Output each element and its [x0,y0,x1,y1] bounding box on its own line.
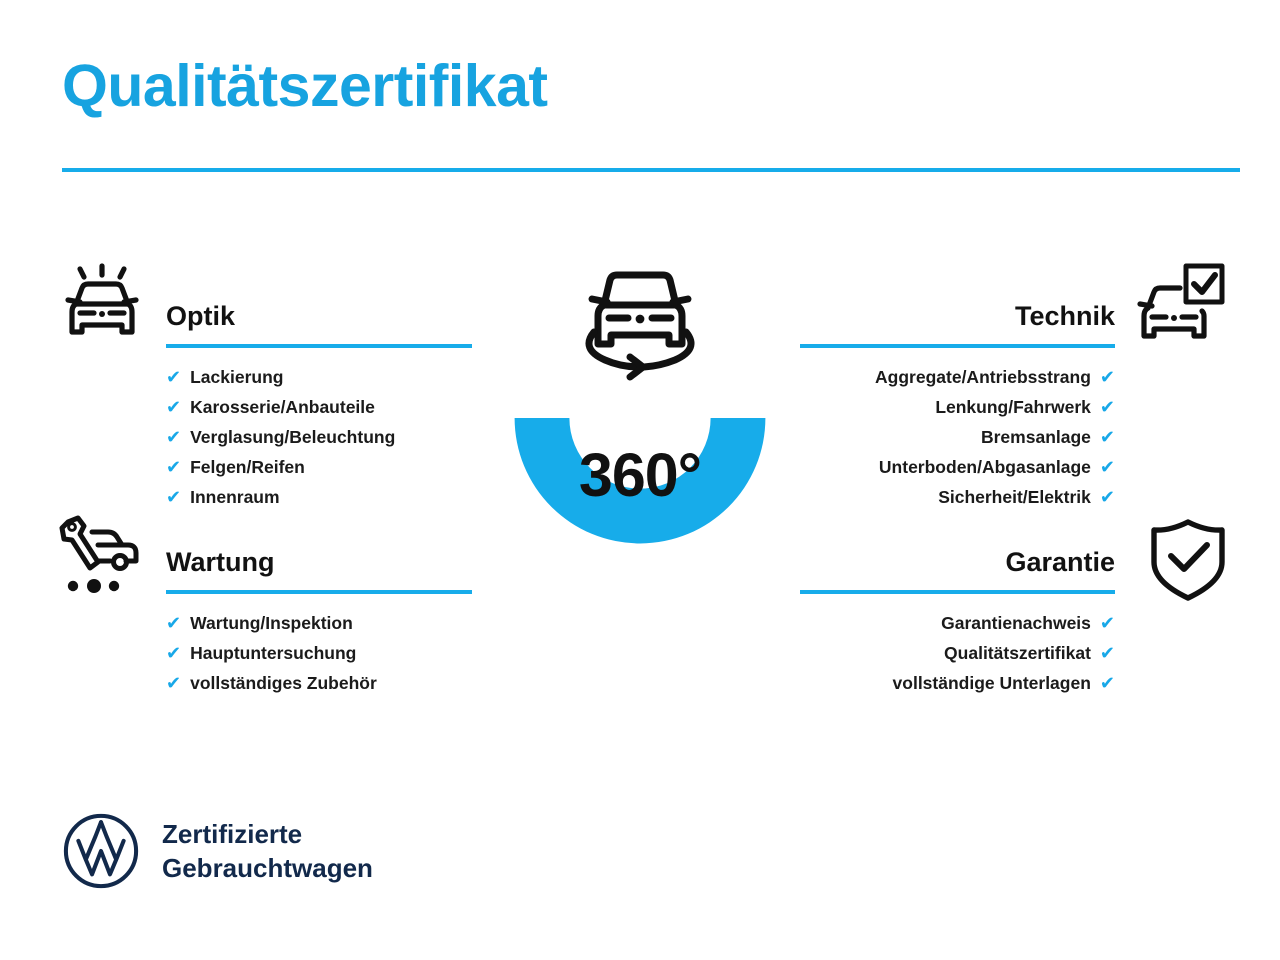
check-icon: ✔ [166,638,181,668]
list-item-label: Lackierung [190,362,283,392]
list-item: Lenkung/Fahrwerk✔ [800,392,1115,422]
section-optik: Optik ✔Lackierung ✔Karosserie/Anbauteile… [166,300,472,342]
list-item-label: Wartung/Inspektion [190,608,353,638]
list-item-label: Innenraum [190,482,279,512]
check-icon: ✔ [1100,608,1115,638]
check-icon: ✔ [166,392,181,422]
list-item: ✔Wartung/Inspektion [166,608,472,638]
section-garantie: Garantie Garantienachweis✔ Qualitätszert… [800,546,1115,588]
check-icon: ✔ [1100,392,1115,422]
check-icon: ✔ [1100,422,1115,452]
list-item: Aggregate/Antriebsstrang✔ [800,362,1115,392]
footer-line-2: Gebrauchtwagen [162,851,373,885]
section-technik-title: Technik [800,300,1115,332]
list-item-label: Bremsanlage [981,422,1091,452]
list-item: Qualitätszertifikat✔ [800,638,1115,668]
360-check-badge: Gebrauchtwagen-Check 360° [458,248,822,642]
car-rotate-icon [589,275,691,377]
list-item: Bremsanlage✔ [800,422,1115,452]
section-optik-divider [166,344,472,348]
list-item-label: Garantienachweis [941,608,1091,638]
list-item: vollständige Unterlagen✔ [800,668,1115,698]
section-garantie-list: Garantienachweis✔ Qualitätszertifikat✔ v… [800,608,1115,698]
section-wartung-header: Wartung [166,546,472,588]
vw-logo-icon [62,812,140,890]
section-wartung: Wartung ✔Wartung/Inspektion ✔Hauptunters… [166,546,472,588]
check-icon: ✔ [1100,638,1115,668]
list-item-label: Qualitätszertifikat [944,638,1091,668]
list-item-label: Unterboden/Abgasanlage [879,452,1091,482]
footer-branding: Zertifizierte Gebrauchtwagen [62,812,373,890]
list-item: ✔Lackierung [166,362,472,392]
section-technik-divider [800,344,1115,348]
list-item-label: Aggregate/Antriebsstrang [875,362,1091,392]
check-icon: ✔ [166,422,181,452]
list-item-label: Hauptuntersuchung [190,638,356,668]
section-technik-header: Technik [800,300,1115,342]
check-icon: ✔ [166,482,181,512]
section-optik-title: Optik [166,300,472,332]
list-item-label: vollständiges Zubehör [190,668,377,698]
section-garantie-header: Garantie [800,546,1115,588]
check-icon: ✔ [1100,482,1115,512]
section-wartung-list: ✔Wartung/Inspektion ✔Hauptuntersuchung ✔… [166,608,472,698]
list-item: ✔Karosserie/Anbauteile [166,392,472,422]
list-item-label: Karosserie/Anbauteile [190,392,375,422]
car-checkbox-icon [1132,258,1228,354]
list-item: Unterboden/Abgasanlage✔ [800,452,1115,482]
check-icon: ✔ [1100,452,1115,482]
list-item: ✔Innenraum [166,482,472,512]
section-wartung-divider [166,590,472,594]
check-icon: ✔ [166,452,181,482]
list-item: ✔Hauptuntersuchung [166,638,472,668]
section-technik-list: Aggregate/Antriebsstrang✔ Lenkung/Fahrwe… [800,362,1115,512]
check-icon: ✔ [166,668,181,698]
section-optik-list: ✔Lackierung ✔Karosserie/Anbauteile ✔Verg… [166,362,472,512]
section-garantie-title: Garantie [800,546,1115,578]
check-icon: ✔ [166,608,181,638]
section-wartung-title: Wartung [166,546,472,578]
section-technik: Technik Aggregate/Antriebsstrang✔ Lenkun… [800,300,1115,342]
badge-center-label: 360° [458,445,822,506]
shield-check-icon [1140,512,1236,608]
car-shine-icon [54,258,150,354]
list-item: Garantienachweis✔ [800,608,1115,638]
page-title: Qualitätszertifikat [62,54,548,119]
list-item-label: Verglasung/Beleuchtung [190,422,395,452]
check-icon: ✔ [1100,362,1115,392]
check-icon: ✔ [1100,668,1115,698]
title-divider [62,168,1240,172]
list-item: Sicherheit/Elektrik✔ [800,482,1115,512]
footer-line-1: Zertifizierte [162,817,373,851]
quality-certificate-page: Qualitätszertifikat [0,0,1280,960]
list-item-label: vollständige Unterlagen [893,668,1091,698]
wrench-car-icon [54,506,150,602]
footer-text: Zertifizierte Gebrauchtwagen [162,817,373,885]
list-item: ✔vollständiges Zubehör [166,668,472,698]
section-optik-header: Optik [166,300,472,342]
list-item: ✔Verglasung/Beleuchtung [166,422,472,452]
list-item-label: Felgen/Reifen [190,452,305,482]
section-garantie-divider [800,590,1115,594]
list-item-label: Sicherheit/Elektrik [938,482,1091,512]
list-item-label: Lenkung/Fahrwerk [935,392,1091,422]
check-icon: ✔ [166,362,181,392]
list-item: ✔Felgen/Reifen [166,452,472,482]
